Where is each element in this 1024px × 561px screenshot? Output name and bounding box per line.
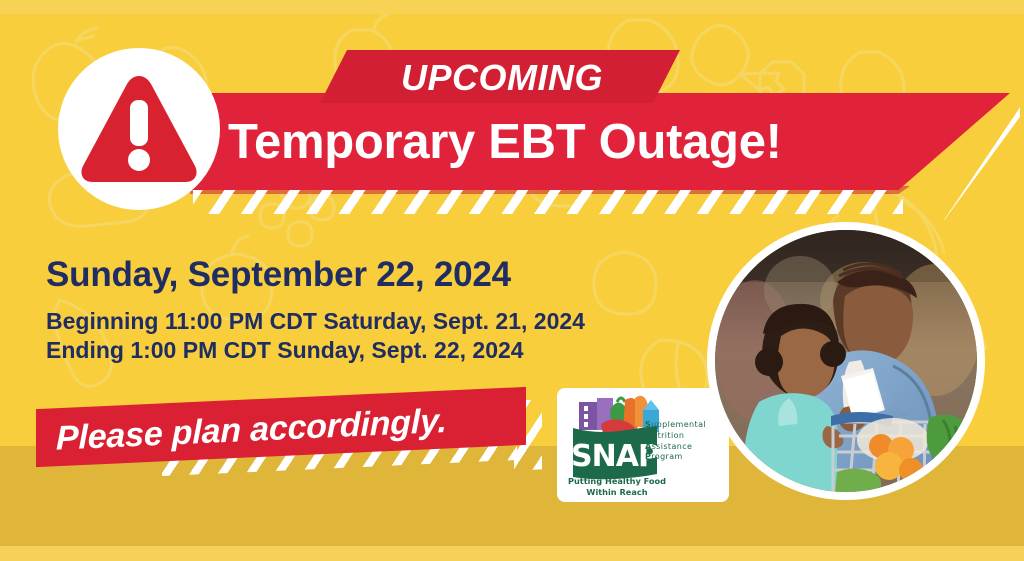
outage-end-time: Ending 1:00 PM CDT Sunday, Sept. 22, 202… [46, 337, 524, 364]
snap-tagline-line1: Putting Healthy Food [557, 476, 677, 487]
outage-begin-time: Beginning 11:00 PM CDT Saturday, Sept. 2… [46, 308, 585, 335]
snap-tagline-line2: Within Reach [557, 487, 677, 498]
ebt-outage-poster: UPCOMING Temporary EBT Outage! Sunday, S… [0, 0, 1024, 561]
warning-triangle-icon [78, 70, 200, 188]
callout-banner-group: Please plan accordingly. [22, 392, 542, 487]
photo-circle-frame [707, 222, 985, 500]
photo-illustration [715, 230, 977, 492]
snap-logo-card: SNAP Supplemental Nutrition Assistance P… [557, 388, 729, 502]
snap-tagline: Putting Healthy Food Within Reach [557, 476, 677, 497]
eyebrow-label: UPCOMING [352, 55, 652, 100]
page-title: Temporary EBT Outage! [228, 110, 928, 174]
bottom-light-strip [0, 546, 1024, 561]
banner-diagonal-stripes-bottom [193, 190, 903, 214]
outage-date: Sunday, September 22, 2024 [46, 255, 511, 295]
shopping-family-photo [715, 230, 977, 492]
top-light-strip [0, 0, 1024, 14]
